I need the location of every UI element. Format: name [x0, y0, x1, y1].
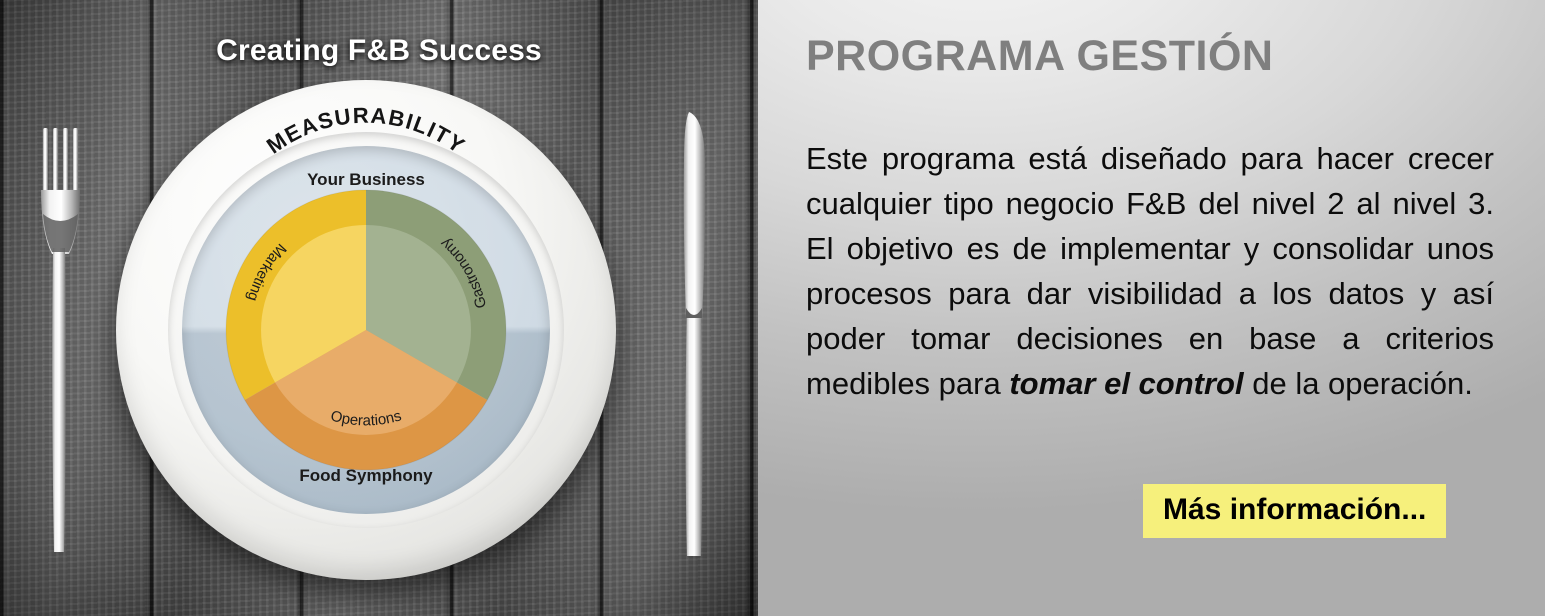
description-emphasis: tomar el control — [1009, 366, 1243, 401]
photo-panel: Creating F&B Success — [0, 0, 758, 616]
description-text: Este programa está diseñado para hacer c… — [806, 136, 1494, 406]
text-panel: PROGRAMA GESTIÓN Este programa está dise… — [758, 0, 1545, 616]
pie-chart: Marketing Gastronomy Operations — [224, 188, 508, 472]
description-part2: de la operación. — [1244, 366, 1473, 401]
svg-text:MEASURABILITY: MEASURABILITY — [262, 103, 470, 159]
your-business-label: Your Business — [116, 170, 616, 190]
fork-icon — [30, 128, 92, 558]
page-title: PROGRAMA GESTIÓN — [806, 32, 1273, 81]
measurability-text: MEASURABILITY — [262, 103, 470, 159]
knife-icon — [672, 108, 718, 560]
more-info-button[interactable]: Más información... — [1143, 484, 1446, 538]
promo-banner: Creating F&B Success — [0, 0, 1545, 616]
plate-diagram: MEASURABILITY Your Business Food Symphon… — [116, 80, 636, 580]
photo-title: Creating F&B Success — [0, 34, 758, 68]
description-part1: Este programa está diseñado para hacer c… — [806, 141, 1494, 401]
